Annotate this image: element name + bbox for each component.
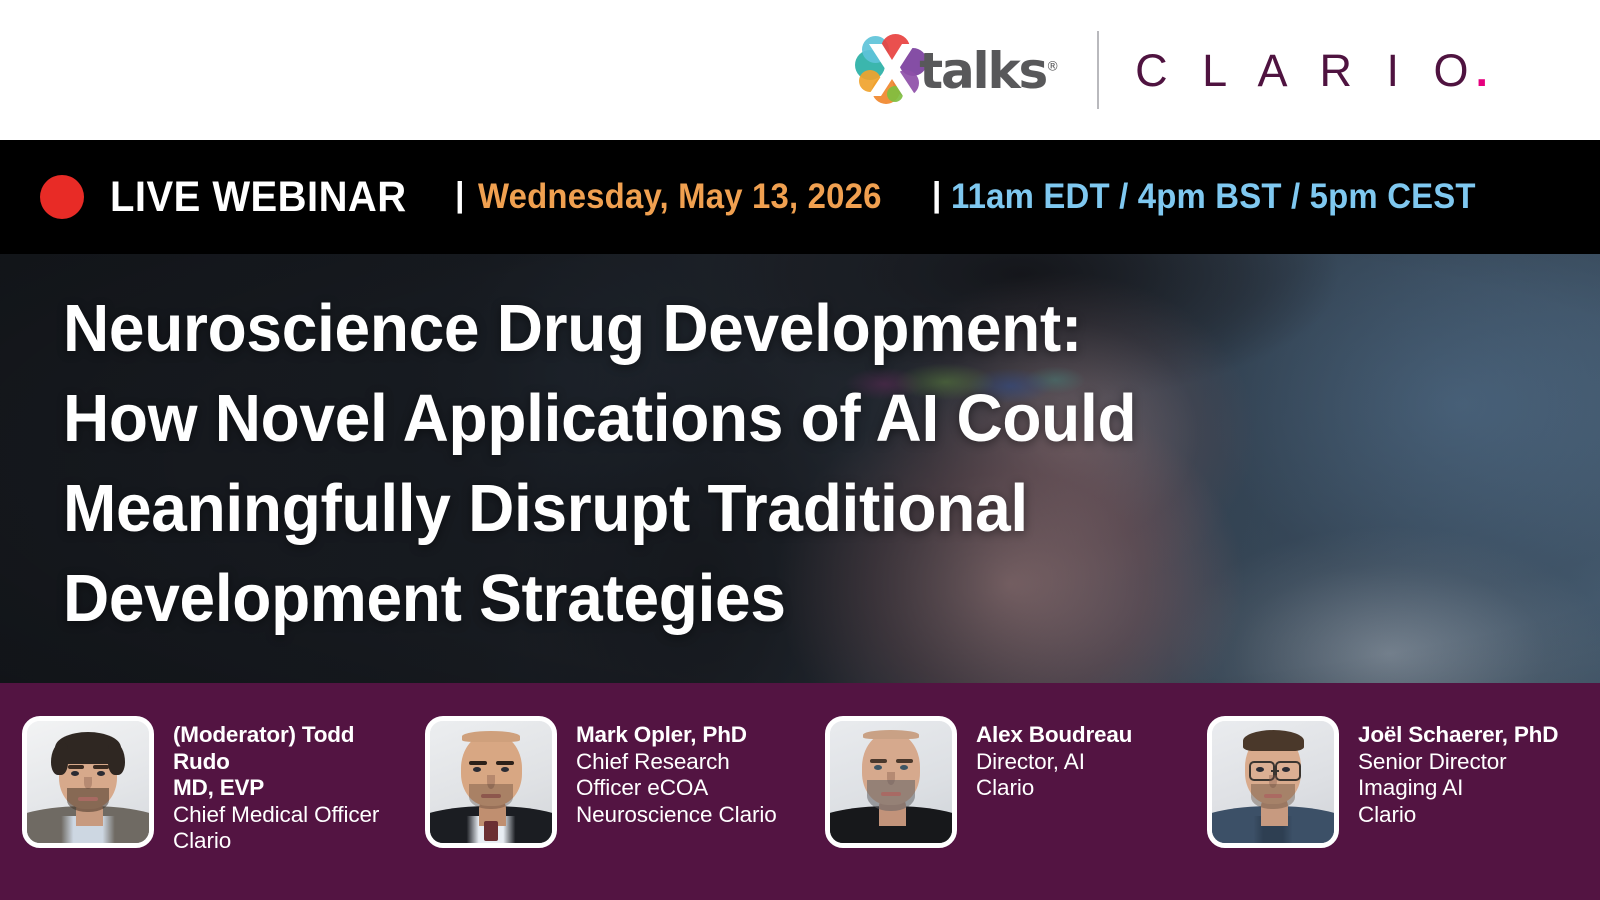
webinar-date: Wednesday, May 13, 2026 [478,177,882,217]
title-line-4: Development Strategies [63,554,1266,644]
speaker-card: Joël Schaerer, PhD Senior Director Imagi… [1207,716,1577,848]
xtalks-registered-mark: ® [1046,59,1059,74]
avatar [22,716,154,848]
webinar-time-zones: 11am EDT / 4pm BST / 5pm CEST [951,177,1476,217]
live-webinar-bar: LIVE WEBINAR | Wednesday, May 13, 2026 |… [0,140,1600,254]
title-line-3: Meaningfully Disrupt Traditional [63,464,1266,554]
clario-wordmark: C L A R I O [1135,48,1479,93]
logo-group: talks® C L A R I O. [855,30,1488,110]
speaker-info: Alex Boudreau Director, AI Clario [976,716,1132,802]
speaker-card: (Moderator) Todd Rudo MD, EVP Chief Medi… [22,716,415,855]
xtalks-x-icon [855,34,929,106]
webinar-promo-poster: talks® C L A R I O. LIVE WEBINAR | Wedne… [0,0,1600,900]
portrait-illustration [1212,721,1334,843]
speaker-role: Chief Medical Officer Clario [173,802,415,855]
avatar [825,716,957,848]
xtalks-flower-icon [855,34,929,106]
xtalks-wordmark: talks® [919,46,1059,96]
live-bar-separator-1: | [455,176,465,215]
speaker-card: Mark Opler, PhD Chief Research Officer e… [425,716,813,848]
xtalks-logo[interactable]: talks® [855,34,1079,106]
portrait-illustration [830,721,952,843]
speaker-info: Joël Schaerer, PhD Senior Director Imagi… [1358,716,1558,828]
title-line-1: Neuroscience Drug Development: [63,284,1266,374]
speaker-role: Director, AI Clario [976,749,1132,802]
portrait-illustration [27,721,149,843]
portrait-illustration [430,721,552,843]
avatar [1207,716,1339,848]
speaker-name: Joël Schaerer, PhD [1358,722,1558,749]
live-bar-separator-2: | [932,176,942,215]
speaker-info: Mark Opler, PhD Chief Research Officer e… [576,716,777,828]
live-record-dot-icon [40,175,84,219]
speakers-band: (Moderator) Todd Rudo MD, EVP Chief Medi… [0,683,1600,900]
speaker-role: Senior Director Imaging AI Clario [1358,749,1558,829]
live-webinar-label: LIVE WEBINAR [110,173,407,222]
speaker-card: Alex Boudreau Director, AI Clario [825,716,1191,848]
speaker-info: (Moderator) Todd Rudo MD, EVP Chief Medi… [173,716,415,855]
title-line-2: How Novel Applications of AI Could [63,374,1266,464]
clario-dot-accent: . [1475,48,1488,93]
speaker-role: Chief Research Officer eCOA Neuroscience… [576,749,777,829]
speaker-name: (Moderator) Todd Rudo MD, EVP [173,722,415,802]
logo-bar: talks® C L A R I O. [0,0,1600,140]
speaker-name: Alex Boudreau [976,722,1132,749]
xtalks-wordmark-text: talks [919,42,1046,100]
clario-logo[interactable]: C L A R I O. [1135,48,1488,93]
hero-section: Neuroscience Drug Development: How Novel… [0,254,1600,683]
speaker-name: Mark Opler, PhD [576,722,777,749]
page-title: Neuroscience Drug Development: How Novel… [63,284,1266,644]
logo-divider [1097,31,1099,109]
avatar [425,716,557,848]
